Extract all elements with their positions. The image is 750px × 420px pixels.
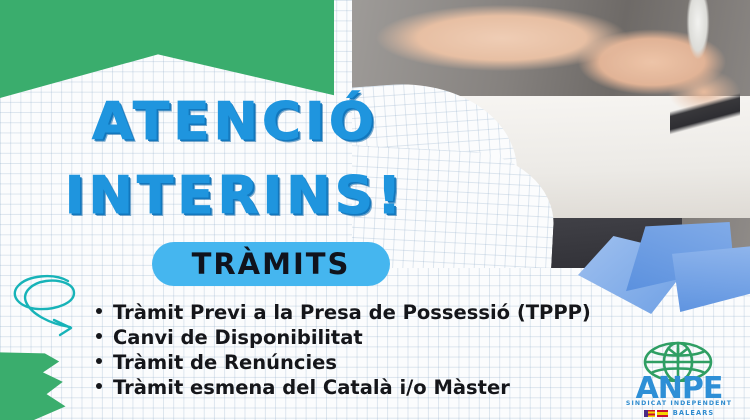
list-item: Canvi de Disponibilitat	[96, 325, 591, 350]
balears-flag-icon	[644, 410, 655, 417]
bullet-dot-icon	[96, 308, 102, 314]
spain-flag-icon	[657, 410, 668, 417]
list-item-label: Tràmit de Renúncies	[113, 350, 337, 375]
anpe-region-label: BALEARS	[673, 409, 714, 417]
bullet-dot-icon	[96, 358, 102, 364]
tramits-badge-label: TRÀMITS	[192, 247, 351, 281]
anpe-region-row: BALEARS	[614, 409, 744, 417]
bullet-dot-icon	[96, 383, 102, 389]
list-item: Tràmit esmena del Català i/o Màster	[96, 375, 591, 400]
spiral-arrow-icon	[8, 272, 88, 340]
flags-group	[644, 410, 668, 417]
bullet-dot-icon	[96, 333, 102, 339]
list-item-label: Tràmit Previ a la Presa de Possessió (TP…	[113, 300, 591, 325]
tramits-list: Tràmit Previ a la Presa de Possessió (TP…	[96, 300, 591, 400]
list-item-label: Canvi de Disponibilitat	[113, 325, 363, 350]
list-item: Tràmit Previ a la Presa de Possessió (TP…	[96, 300, 591, 325]
list-item: Tràmit de Renúncies	[96, 350, 591, 375]
blue-origami-shape	[576, 222, 750, 322]
anpe-logo: ANPE SINDICAT INDEPENDENT BALEARS	[614, 338, 744, 418]
tramits-badge[interactable]: TRÀMITS	[152, 242, 390, 286]
list-item-label: Tràmit esmena del Català i/o Màster	[113, 375, 510, 400]
anpe-tagline: SINDICAT INDEPENDENT	[614, 400, 744, 407]
poster-canvas: ATENCIÓ INTERINS! TRÀMITS Tràmit Previ a…	[0, 0, 750, 420]
origami-facet-3	[672, 246, 750, 312]
